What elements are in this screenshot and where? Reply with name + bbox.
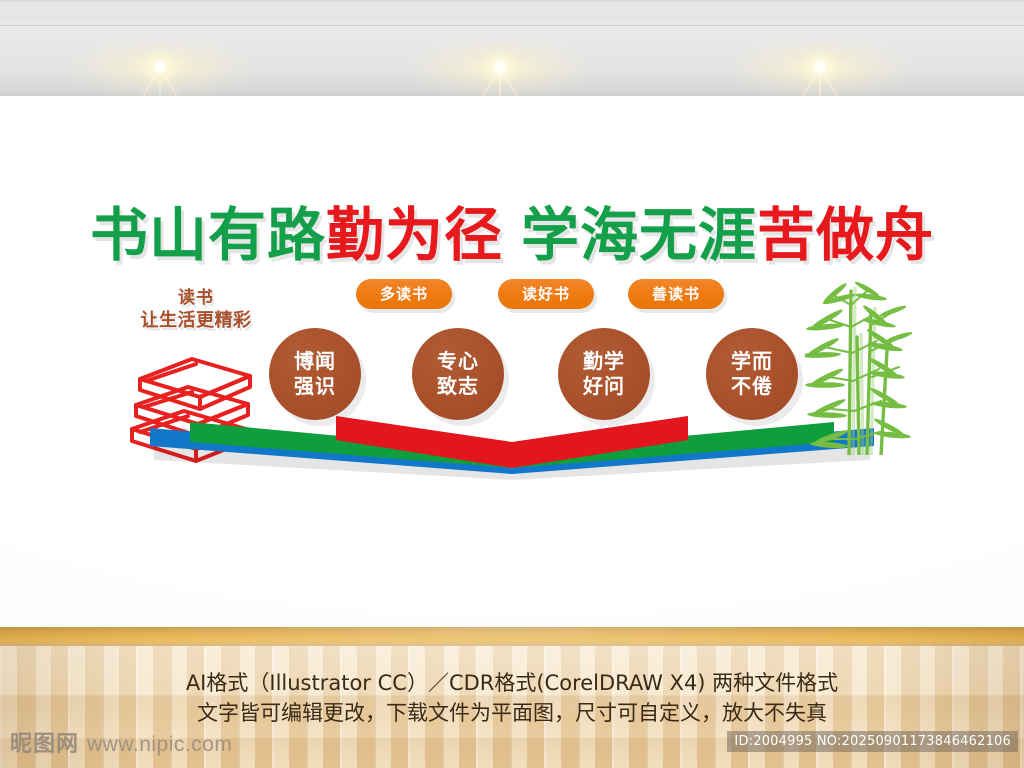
circle-xueer-bujuan[interactable]: 学而 不倦: [706, 328, 798, 420]
circle-line1: 学而: [731, 349, 773, 374]
watermark-brand: 昵图网: [10, 726, 79, 758]
circle-bowen-qiangshi[interactable]: 博闻 强识: [269, 328, 361, 420]
circle-zhuanxin-zhizhi[interactable]: 专心 致志: [412, 328, 504, 420]
id-badge: ID:2004995 NO:20250901173846462106: [727, 731, 1018, 752]
spotlight-left: [70, 38, 250, 96]
page-title: 书山有路勤为径学海无涯苦做舟: [0, 204, 1024, 266]
circle-qinxue-haowen[interactable]: 勤学 好问: [558, 328, 650, 420]
watermark: 昵图网 www.nipic.com: [10, 726, 232, 758]
pill-duo-du-shu[interactable]: 多读书: [356, 279, 452, 309]
spotlight-bulb-icon: [152, 59, 168, 75]
pill-row: 多读书 读好书 善读书: [340, 279, 730, 309]
left-slogan-line1: 读书: [112, 288, 280, 309]
circle-line1: 勤学: [583, 349, 625, 374]
headline-segment-1: 书山有路: [90, 204, 326, 266]
spotlight-bulb-icon: [812, 59, 828, 75]
poster-preview-stage: 书山有路勤为径学海无涯苦做舟 读书 让生活更精彩: [0, 0, 1024, 768]
pill-shan-du-shu[interactable]: 善读书: [628, 279, 724, 309]
footer-line2: 文字皆可编辑更改，下载文件为平面图，尺寸可自定义，放大不失真: [0, 698, 1024, 728]
circle-line2: 强识: [294, 374, 336, 399]
left-slogan-line2: 让生活更精彩: [112, 309, 280, 332]
circle-line2: 致志: [437, 374, 479, 399]
ceiling-seam: [0, 25, 1024, 26]
watermark-url: www.nipic.com: [87, 733, 232, 757]
circle-line2: 好问: [583, 374, 625, 399]
headline-segment-3: 学海无涯: [521, 204, 757, 266]
footer-description: AI格式（Illustrator CC）／CDR格式(CorelDRAW X4)…: [0, 668, 1024, 728]
bamboo-icon: [805, 277, 917, 455]
circle-line2: 不倦: [731, 374, 773, 399]
spotlight-center: [410, 38, 590, 96]
circle-line1: 博闻: [294, 349, 336, 374]
left-slogan: 读书 让生活更精彩: [112, 288, 280, 332]
spotlight-bulb-icon: [492, 59, 508, 75]
circle-line1: 专心: [437, 349, 479, 374]
footer-line1: AI格式（Illustrator CC）／CDR格式(CorelDRAW X4)…: [0, 668, 1024, 698]
spotlight-right: [730, 38, 910, 96]
headline-segment-2: 勤为径: [326, 204, 503, 266]
ceiling-top-seam: [0, 0, 1024, 2]
headline-segment-4: 苦做舟: [757, 204, 934, 266]
ceiling: [0, 0, 1024, 96]
chevron-ribbon-graphic: [150, 408, 874, 480]
pill-du-hao-shu[interactable]: 读好书: [498, 279, 594, 309]
